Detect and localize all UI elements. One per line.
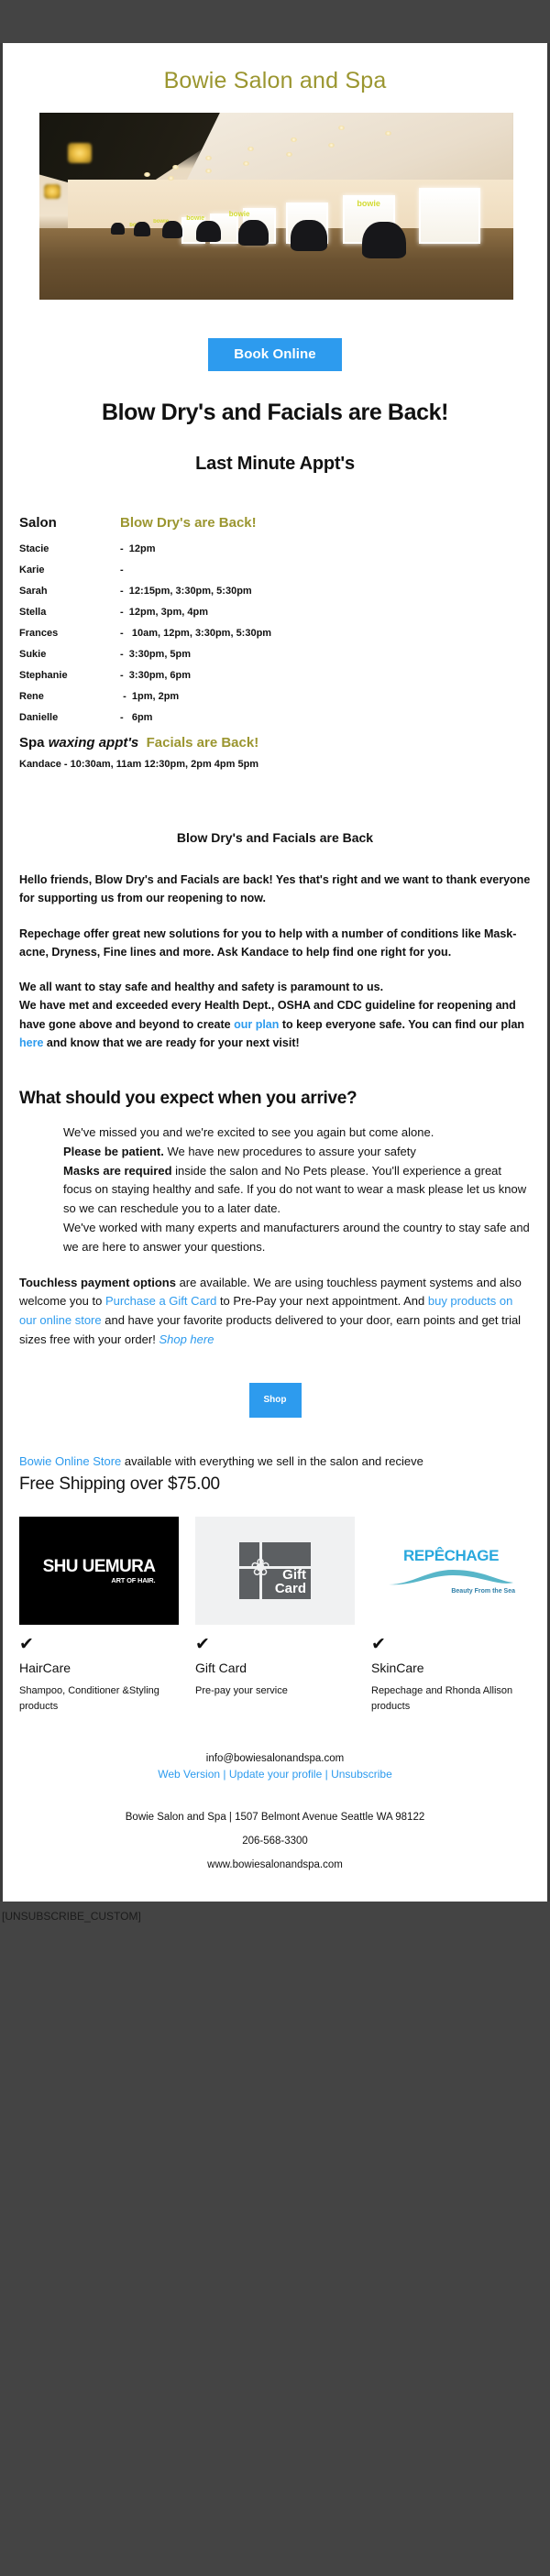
touchless-block: Touchless payment options are available.… [3,1257,547,1350]
stylist-name: Danielle [19,712,120,733]
footer-links: Web Version | Update your profile | Unsu… [19,1764,531,1781]
stylist-times: - [120,565,531,586]
top-dark-bar [0,0,550,43]
be-patient-rest: We have new procedures to assure your sa… [164,1145,416,1158]
headings-block: Blow Dry's and Facials are Back! Last Mi… [3,400,547,475]
arrive-line-3: Masks are required inside the salon and … [63,1162,531,1219]
arrive-line-2: Please be patient. We have new procedure… [63,1143,531,1162]
touchless-text-b: to Pre-Pay your next appointment. And [216,1294,428,1308]
stylist-name: Stephanie [19,670,120,691]
ceiling-spot-icon [291,137,297,142]
salon-chair [134,222,150,236]
spa-label-plain: Spa [19,735,49,751]
spa-waxing-label: Spa waxing appt's Facials are Back! [19,733,531,751]
arrive-heading: What should you expect when you arrive? [19,1089,531,1109]
table-row: Sarah - 12:15pm, 3:30pm, 5:30pm [19,586,531,607]
stylist-times: - 6pm [120,712,531,733]
table-row: Danielle - 6pm [19,712,531,733]
stylist-name: Stacie [19,543,120,565]
repechage-wave-icon [387,1567,515,1587]
online-store-rest: available with everything we sell in the… [121,1454,423,1468]
arrive-copy: We've missed you and we're excited to se… [19,1109,531,1257]
footer-separator: | [223,1768,225,1781]
product-title: SkinCare [371,1661,531,1683]
repechage-logo: REPÊCHAGE Beauty From the Sea [371,1517,531,1625]
stylist-name: Stella [19,607,120,628]
spa-label-italic: waxing appt's [49,735,139,751]
stylist-name: Karie [19,565,120,586]
ceiling-spot-icon [205,156,212,160]
online-store-line: Bowie Online Store available with everyt… [19,1452,531,1471]
salon-chair [162,221,182,238]
purchase-gift-card-link[interactable]: Purchase a Gift Card [105,1294,216,1308]
table-row: Stephanie - 3:30pm, 6pm [19,670,531,691]
page-title: Bowie Salon and Spa [3,43,547,113]
bowie-wall-logo: bowie [229,210,250,218]
book-online-button[interactable]: Book Online [208,338,341,371]
masks-required-bold: Masks are required [63,1164,172,1178]
shu-uemura-logo: SHU UEMURA ART OF HAIR. [19,1517,179,1625]
main-heading: Blow Dry's and Facials are Back! [19,400,531,426]
touchless-paragraph: Touchless payment options are available.… [19,1274,531,1350]
shu-uemura-wordmark: SHU UEMURA [43,1558,156,1575]
salon-chair [196,221,221,242]
shop-here-link[interactable]: Shop here [159,1332,214,1346]
stylist-times: - 10am, 12pm, 3:30pm, 5:30pm [120,628,531,649]
repechage-tagline: Beauty From the Sea [387,1588,515,1595]
appointments-table: Salon Blow Dry's are Back! Stacie - 12pm… [19,515,531,733]
product-column-haircare: SHU UEMURA ART OF HAIR. ✔ HairCare Shamp… [19,1517,179,1715]
safety-text-b: to keep everyone safe. You can find our … [279,1018,524,1031]
salon-chair [362,222,406,258]
email-body-sheet: Bowie Salon and Spa [0,43,550,1902]
paragraph-safety: We all want to stay safe and healthy and… [19,961,531,1052]
bold-copy-block: Hello friends, Blow Dry's and Facials ar… [3,845,547,1052]
arrive-line-4: We've worked with many experts and manuf… [63,1219,531,1257]
hero-image-wrap: bowie bowie bowie bowie bowie [3,113,547,300]
table-row: Frances - 10am, 12pm, 3:30pm, 5:30pm [19,628,531,649]
chandelier-icon [68,143,92,163]
salon-chair [111,223,125,235]
paragraph-repechage: Repechage offer great new solutions for … [19,908,531,962]
table-row: Sukie - 3:30pm, 5pm [19,649,531,670]
stylist-times: - 12:15pm, 3:30pm, 5:30pm [120,586,531,607]
spa-appointment-row: Kandace - 10:30am, 11am 12:30pm, 2pm 4pm… [19,751,531,770]
spa-banner: Facials are Back! [147,735,259,751]
online-store-block: Bowie Online Store available with everyt… [3,1452,547,1496]
salon-banner: Blow Dry's are Back! [120,515,531,543]
footer-website: www.bowiesalonandspa.com [19,1847,531,1902]
shu-uemura-tagline: ART OF HAIR. [43,1577,156,1584]
table-row: Stella - 12pm, 3pm, 4pm [19,607,531,628]
salon-chair [291,220,327,251]
checkmark-icon: ✔ [19,1625,179,1661]
section-heading-block: Blow Dry's and Facials are Back [3,770,547,845]
stylist-times: - 1pm, 2pm [120,691,531,712]
bowie-online-store-link[interactable]: Bowie Online Store [19,1454,121,1468]
product-title: HairCare [19,1661,179,1683]
free-shipping-text: Free Shipping over $75.00 [19,1470,531,1495]
product-column-giftcard: ❀ GiftCard ✔ Gift Card Pre-pay your serv… [195,1517,355,1715]
product-title: Gift Card [195,1661,355,1683]
section-heading: Blow Dry's and Facials are Back [19,830,531,845]
appointments-header-row: Salon Blow Dry's are Back! [19,515,531,543]
paragraph-intro: Hello friends, Blow Dry's and Facials ar… [19,871,531,908]
be-patient-bold: Please be patient. [63,1145,164,1158]
update-profile-link[interactable]: Update your profile [229,1768,322,1781]
ceiling-spot-icon [328,143,335,148]
checkmark-icon: ✔ [371,1625,531,1661]
gift-bow-icon: ❀ [247,1555,274,1579]
product-column-skincare: REPÊCHAGE Beauty From the Sea ✔ SkinCare… [371,1517,531,1715]
stylist-times: - 12pm [120,543,531,565]
arrive-block: What should you expect when you arrive? … [3,1052,547,1257]
table-row: Stacie - 12pm [19,543,531,565]
product-subtitle: Shampoo, Conditioner &Styling products [19,1683,179,1715]
stylist-name: Frances [19,628,120,649]
web-version-link[interactable]: Web Version [158,1768,220,1781]
safety-line-1: We all want to stay safe and healthy and… [19,981,383,993]
stylist-name: Sukie [19,649,120,670]
salon-interior-image: bowie bowie bowie bowie bowie [39,113,513,300]
footer-email: info@bowiesalonandspa.com [19,1753,531,1764]
appointments-block: Salon Blow Dry's are Back! Stacie - 12pm… [3,475,547,770]
ceiling-spot-icon [286,152,292,157]
salon-chair [238,220,269,246]
ceiling-spot-icon [172,165,179,170]
stylist-times: - 12pm, 3pm, 4pm [120,607,531,628]
unsubscribe-link[interactable]: Unsubscribe [331,1768,392,1781]
shop-button-row: Shop [3,1350,547,1452]
product-columns: SHU UEMURA ART OF HAIR. ✔ HairCare Shamp… [19,1517,531,1715]
repechage-wordmark: REPÊCHAGE [387,1547,515,1565]
salon-label: Salon [19,515,120,543]
email-page: Bowie Salon and Spa [0,0,550,2576]
gift-card-wordmark: GiftCard [275,1568,306,1595]
stylist-name: Rene [19,691,120,712]
safety-text-c: and know that we are ready for your next… [43,1036,299,1049]
footer-address: Bowie Salon and Spa | 1507 Belmont Avenu… [19,1781,531,1823]
bowie-wall-logo: bowie [357,199,380,208]
stylist-times: - 3:30pm, 5pm [120,649,531,670]
stylist-times: - 3:30pm, 6pm [120,670,531,691]
shop-button[interactable]: Shop [249,1383,302,1418]
table-row: Rene - 1pm, 2pm [19,691,531,712]
salon-mirror [419,188,480,244]
product-subtitle: Repechage and Rhonda Allison products [371,1683,531,1715]
book-online-row: Book Online [3,300,547,400]
here-link[interactable]: here [19,1036,43,1049]
unsubscribe-custom-token: [UNSUBSCRIBE_CUSTOM] [0,1902,550,1923]
gift-card-logo: ❀ GiftCard [195,1517,355,1625]
chandelier-icon [44,184,60,199]
sub-heading: Last Minute Appt's [19,426,531,475]
table-row: Karie - [19,565,531,586]
product-subtitle: Pre-pay your service [195,1683,355,1699]
checkmark-icon: ✔ [195,1625,355,1661]
touchless-bold: Touchless payment options [19,1276,176,1289]
footer-block: info@bowiesalonandspa.com Web Version | … [3,1715,547,1902]
products-block: SHU UEMURA ART OF HAIR. ✔ HairCare Shamp… [3,1495,547,1715]
footer-separator: | [325,1768,328,1781]
arrive-line-1: We've missed you and we're excited to se… [63,1124,531,1143]
stylist-name: Sarah [19,586,120,607]
our-plan-link[interactable]: our plan [234,1018,279,1031]
footer-phone: 206-568-3300 [19,1823,531,1847]
